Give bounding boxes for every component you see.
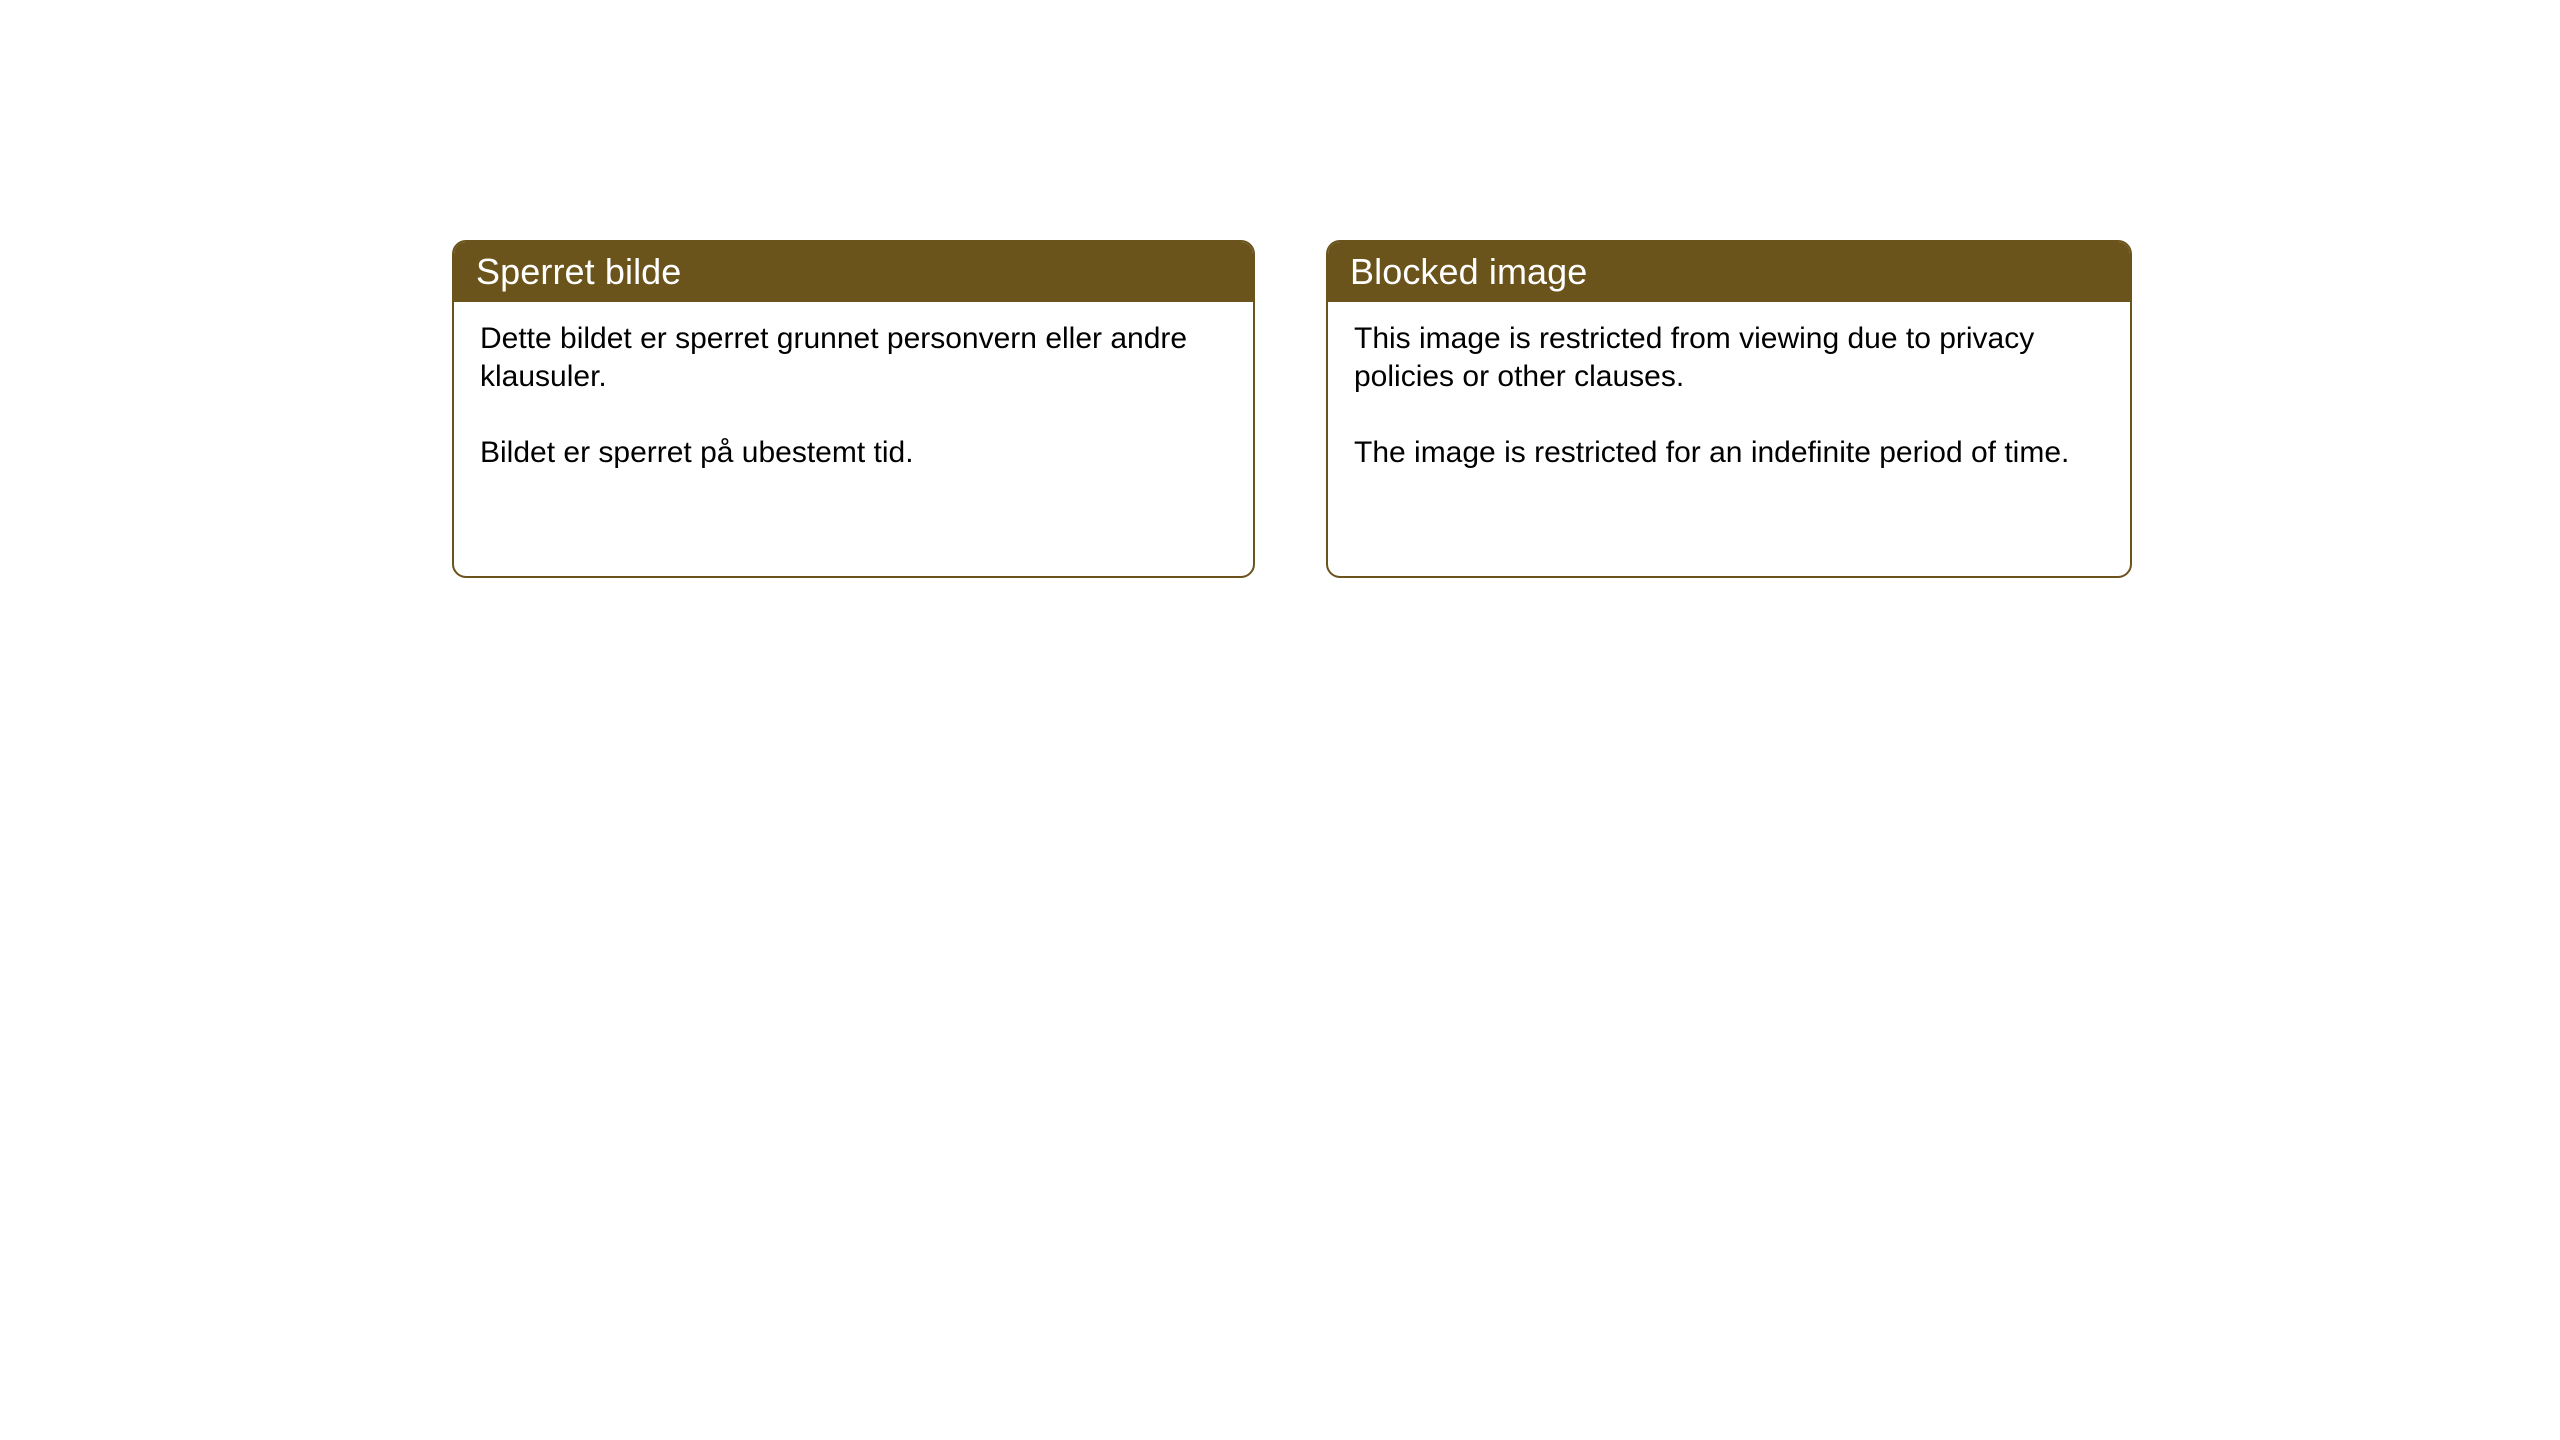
panel-body-english: This image is restricted from viewing du… <box>1328 302 2130 492</box>
page-canvas: Sperret bilde Dette bildet er sperret gr… <box>0 0 2560 1440</box>
notice-paragraph: Dette bildet er sperret grunnet personve… <box>480 320 1227 396</box>
blocked-image-notice-norwegian: Sperret bilde Dette bildet er sperret gr… <box>452 240 1255 578</box>
panel-header-english: Blocked image <box>1328 242 2130 302</box>
panel-title-english: Blocked image <box>1350 254 1587 290</box>
panel-header-norwegian: Sperret bilde <box>454 242 1253 302</box>
notice-paragraph: Bildet er sperret på ubestemt tid. <box>480 434 1227 472</box>
panel-title-norwegian: Sperret bilde <box>476 254 681 290</box>
panel-body-norwegian: Dette bildet er sperret grunnet personve… <box>454 302 1253 492</box>
notice-paragraph: The image is restricted for an indefinit… <box>1354 434 2104 472</box>
notice-paragraph: This image is restricted from viewing du… <box>1354 320 2104 396</box>
blocked-image-notice-english: Blocked image This image is restricted f… <box>1326 240 2132 578</box>
